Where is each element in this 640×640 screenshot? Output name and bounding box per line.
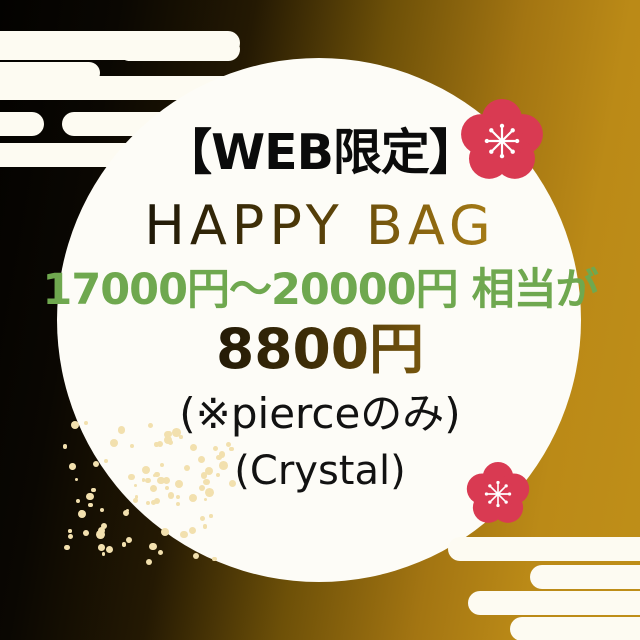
confetti-dot (93, 461, 99, 467)
confetti-dot (199, 485, 205, 491)
confetti-dot (153, 474, 156, 477)
confetti-dot (154, 442, 159, 447)
confetti-dot (98, 544, 105, 551)
confetti-dot (100, 508, 104, 512)
confetti-dot (122, 542, 127, 547)
confetti-dot (91, 488, 96, 493)
confetti-dot (198, 456, 205, 463)
cloud-bar (0, 112, 44, 136)
confetti-dot (88, 503, 93, 508)
confetti-dot (146, 501, 150, 505)
confetti-dot (86, 493, 94, 501)
confetti-dot (68, 534, 73, 539)
confetti-dot (164, 436, 172, 444)
confetti-dot (142, 478, 145, 481)
cloud-bar (510, 617, 640, 640)
confetti-dot (69, 463, 76, 470)
confetti-dot (165, 486, 169, 490)
plum-blossom-icon (466, 462, 530, 526)
plum-blossom-icon (460, 99, 544, 183)
confetti-dot (75, 478, 79, 482)
confetti-dot (106, 546, 113, 553)
confetti-dot (76, 499, 80, 503)
confetti-dot (219, 451, 225, 457)
confetti-dot (149, 543, 157, 551)
confetti-dot (146, 559, 152, 565)
confetti-dot (190, 444, 197, 451)
confetti-dot (123, 510, 129, 516)
confetti-dot (209, 514, 213, 518)
confetti-dot (102, 552, 106, 556)
confetti-dot (83, 530, 89, 536)
confetti-dot (110, 439, 118, 447)
confetti-dot (142, 466, 150, 474)
cloud-bar (118, 38, 240, 61)
confetti-dot (64, 545, 70, 551)
confetti-dot (126, 537, 132, 543)
cloud-bar (530, 565, 640, 589)
confetti-dot (161, 528, 169, 536)
confetti-dot (193, 553, 199, 559)
happy-bag-poster: 【WEB限定】 HAPPY BAG 17000円〜20000円 相当が 8800… (0, 0, 640, 640)
confetti-dot (203, 524, 207, 528)
cloud-bar (448, 537, 640, 561)
confetti-dot (68, 529, 72, 533)
confetti-dot (128, 474, 134, 480)
cloud-bar (600, 591, 640, 615)
confetti-dot (71, 421, 79, 429)
confetti-dot (179, 435, 183, 439)
confetti-dot (158, 550, 163, 555)
confetti-dot (189, 527, 196, 534)
confetti-dot (63, 444, 68, 449)
confetti-dot (154, 498, 160, 504)
confetti-dot (212, 557, 216, 561)
confetti-dot (104, 459, 108, 463)
confetti-dot (168, 492, 174, 498)
confetti-dot (201, 472, 208, 479)
